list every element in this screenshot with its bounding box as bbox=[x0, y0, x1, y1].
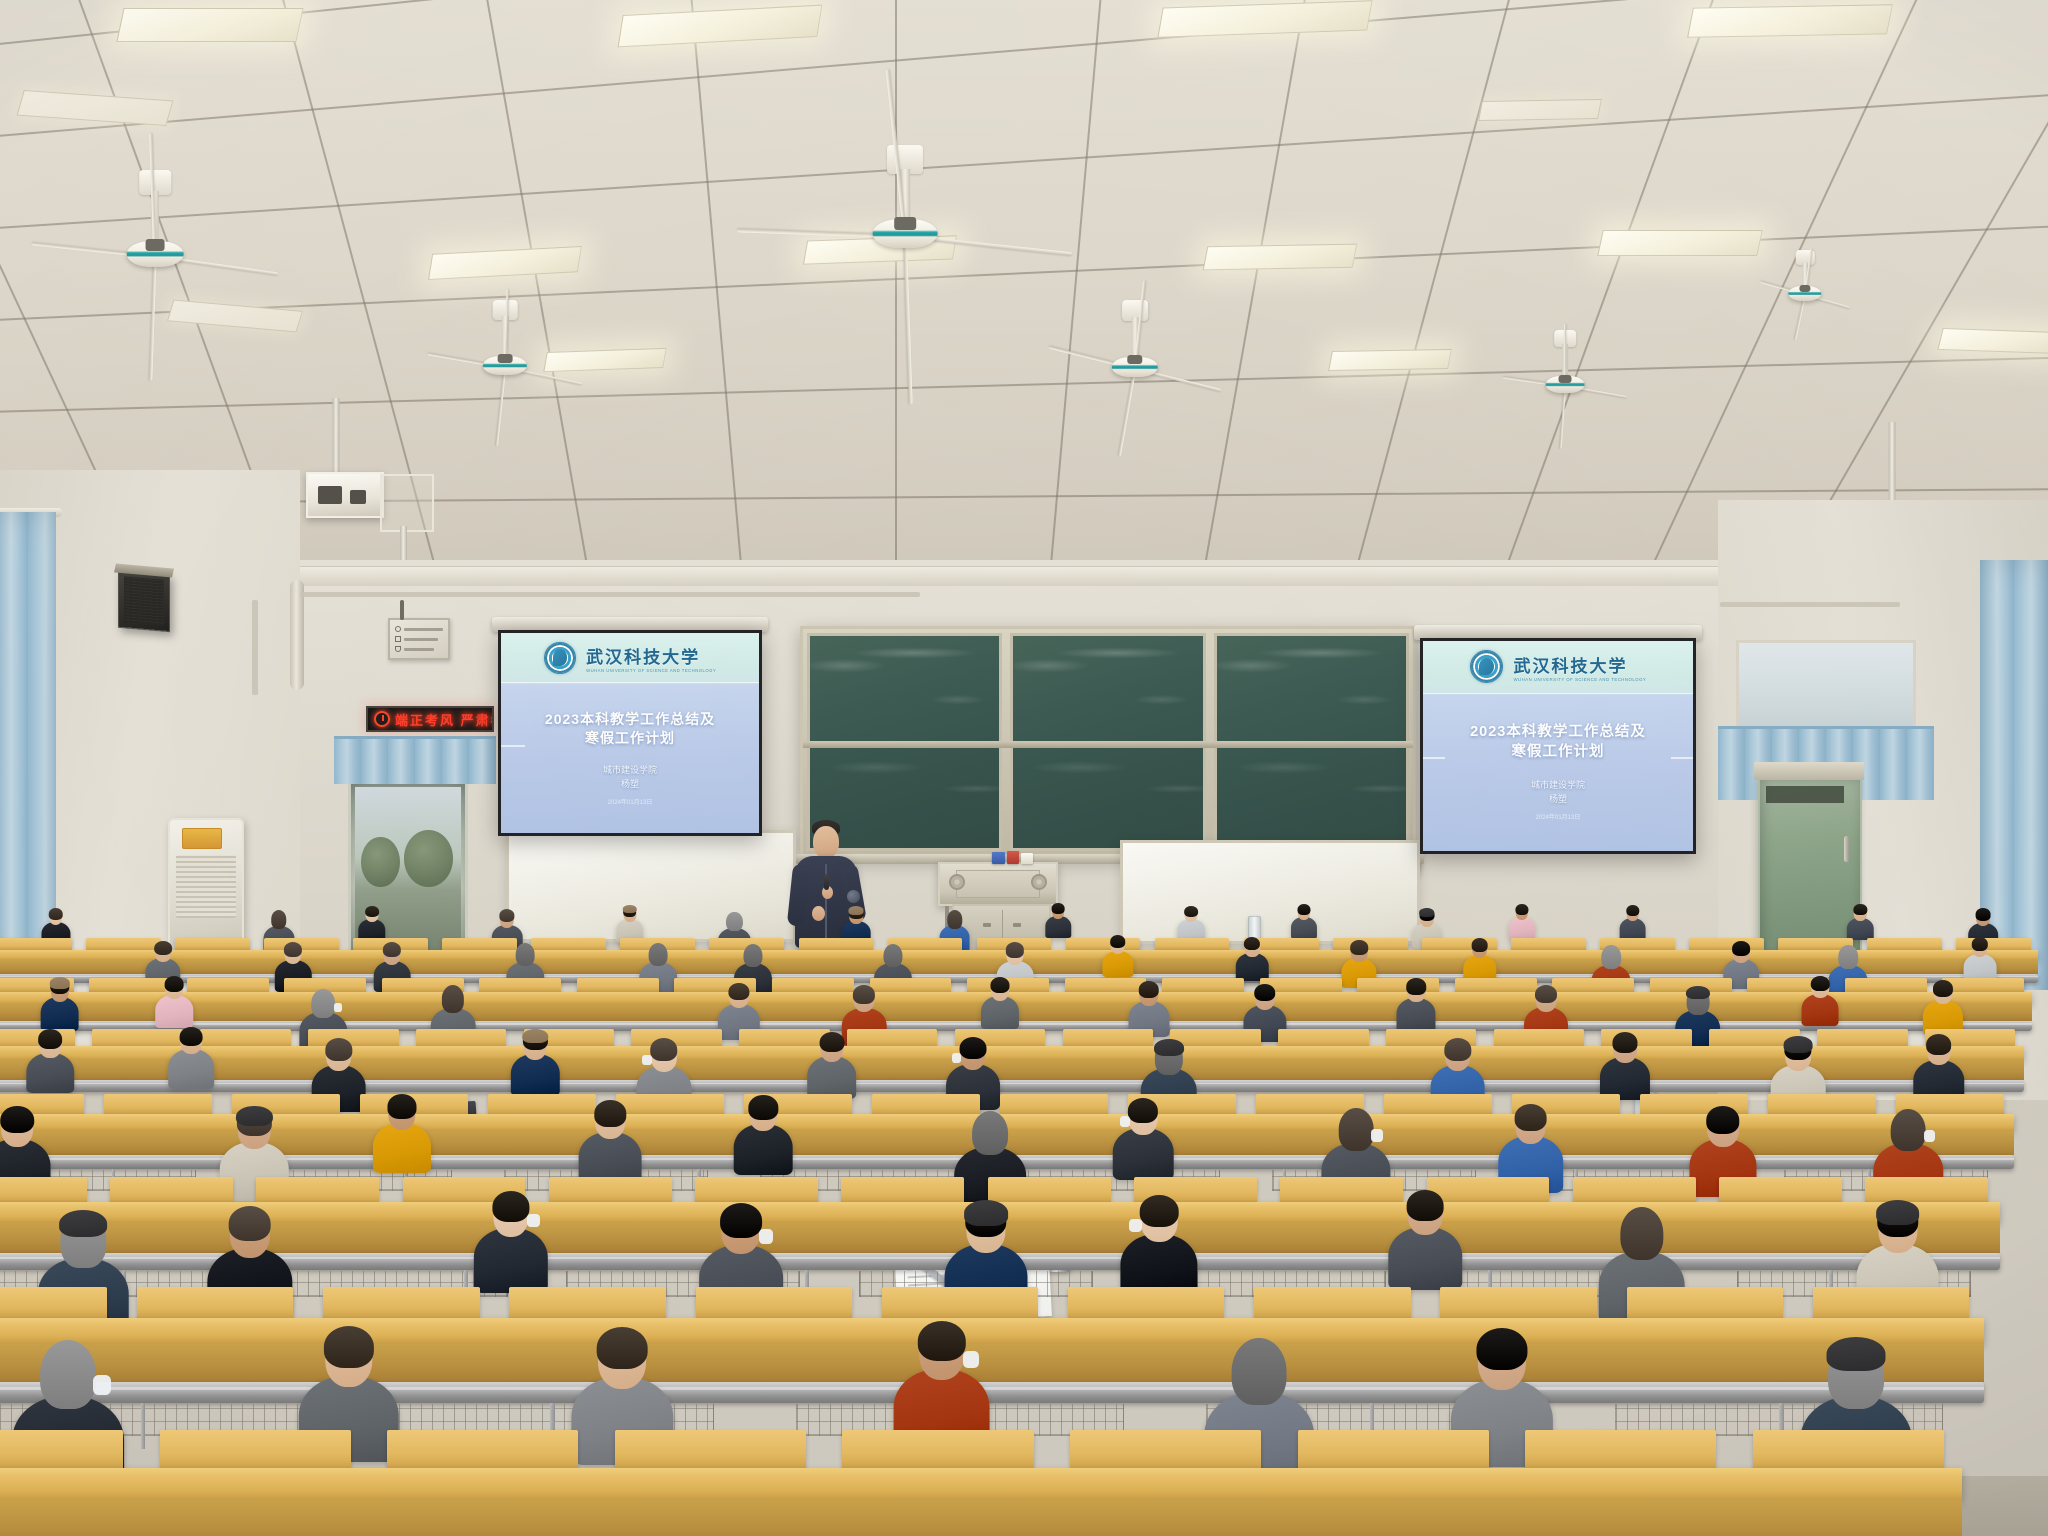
audience-hair bbox=[743, 944, 762, 967]
audience-hair bbox=[271, 910, 287, 929]
audience-torso bbox=[511, 1054, 559, 1096]
audience-hair bbox=[516, 943, 535, 966]
audience-hair bbox=[365, 906, 379, 917]
audience-hair bbox=[1128, 1098, 1158, 1123]
audience-torso bbox=[981, 996, 1019, 1029]
slide-date: 2024年01月13日 bbox=[608, 797, 653, 806]
audience-member bbox=[979, 975, 1021, 1033]
audience-hair bbox=[947, 910, 962, 929]
audience-hat bbox=[1154, 1039, 1184, 1056]
fan-hub bbox=[894, 217, 916, 230]
audience-hair bbox=[228, 1206, 271, 1242]
audience-hair bbox=[1110, 935, 1126, 948]
audience-torso bbox=[1236, 953, 1268, 981]
audience-hair bbox=[284, 942, 302, 957]
audience-member bbox=[1800, 974, 1841, 1031]
chalkboard bbox=[800, 626, 1416, 858]
ceiling-grid-line bbox=[1455, 0, 1737, 640]
fan-hub bbox=[1799, 285, 1810, 292]
audience-member bbox=[1109, 1094, 1176, 1187]
led-sign-text: 端正考风 严肃考纪 bbox=[395, 710, 494, 729]
audience-hair bbox=[1407, 1190, 1444, 1221]
slide-department: 城市建设学院 bbox=[1531, 779, 1585, 793]
university-name-en: WUHAN UNIVERSITY OF SCIENCE AND TECHNOLO… bbox=[586, 668, 716, 673]
fan-hub bbox=[146, 239, 165, 251]
slide-title-line1: 2023本科教学工作总结及 bbox=[1470, 723, 1646, 743]
desk-row bbox=[0, 1468, 1962, 1536]
face-mask bbox=[1924, 1130, 1936, 1143]
audience-hat bbox=[60, 1210, 108, 1238]
ceiling-light-fixture bbox=[1328, 349, 1452, 371]
slide-department: 城市建设学院 bbox=[603, 764, 657, 778]
audience-hair bbox=[1244, 937, 1260, 951]
audience-hair bbox=[1612, 1032, 1637, 1053]
audience-member bbox=[1100, 933, 1135, 981]
ceiling-fan bbox=[1560, 330, 1570, 340]
audience-hat bbox=[849, 906, 864, 915]
audience-hair bbox=[442, 985, 464, 1012]
audience-torso bbox=[1847, 918, 1873, 941]
fan-hub bbox=[498, 354, 513, 363]
ac-warning-sticker bbox=[182, 828, 222, 848]
audience-hair bbox=[972, 1111, 1008, 1155]
audience-hair bbox=[1298, 904, 1311, 915]
audience-hair bbox=[1854, 904, 1867, 915]
audience-member bbox=[508, 1027, 562, 1101]
audience-hair bbox=[917, 1321, 965, 1361]
ceiling-light-fixture bbox=[1203, 244, 1358, 271]
face-mask bbox=[1371, 1129, 1383, 1141]
audience-hair bbox=[728, 983, 749, 1001]
ceiling-light-fixture bbox=[1937, 328, 2048, 354]
ceiling-grid-line bbox=[1313, 0, 1527, 640]
face-mask bbox=[1129, 1219, 1142, 1233]
desk-apron bbox=[0, 1500, 1962, 1536]
ceiling-fan bbox=[900, 145, 910, 155]
audience-hat bbox=[964, 1200, 1008, 1225]
audience-member bbox=[731, 1092, 796, 1182]
slide-title-line2: 寒假工作计划 bbox=[545, 729, 715, 748]
audience-torso bbox=[1397, 998, 1436, 1032]
audience-hair bbox=[154, 941, 172, 956]
desk-apron bbox=[0, 1060, 2024, 1080]
ceiling-grid-line bbox=[0, 352, 2048, 418]
slide-presenter: 杨塑 bbox=[621, 778, 639, 792]
face-mask bbox=[759, 1229, 773, 1244]
audience-torso bbox=[26, 1053, 73, 1094]
ceiling-grid-line bbox=[685, 0, 758, 640]
audience-hair bbox=[594, 1100, 625, 1126]
audience-hair bbox=[1477, 1328, 1528, 1371]
electrical-conduit-right bbox=[1720, 602, 1900, 607]
audience-torso bbox=[155, 995, 193, 1027]
ceiling-grid-line bbox=[475, 0, 619, 640]
audience-torso bbox=[1113, 1128, 1174, 1180]
audience-hair bbox=[1972, 937, 1988, 951]
audience-torso bbox=[1802, 994, 1839, 1026]
audience-hair bbox=[1515, 904, 1528, 915]
slide-title: 2023本科教学工作总结及 寒假工作计划 bbox=[545, 710, 715, 748]
audience-hair bbox=[1471, 938, 1488, 952]
audience-member bbox=[1395, 976, 1438, 1036]
led-scrolling-sign: 端正考风 严肃考纪 bbox=[366, 706, 494, 732]
audience-hair bbox=[726, 912, 742, 932]
audience-member bbox=[370, 1091, 435, 1180]
audience-member bbox=[1290, 902, 1319, 942]
audience-hair bbox=[649, 943, 668, 966]
audience-hat bbox=[1876, 1200, 1920, 1225]
audience-torso bbox=[1291, 917, 1317, 939]
slide-header: 武汉科技大学 WUHAN UNIVERSITY OF SCIENCE AND T… bbox=[1423, 641, 1693, 694]
slide-header: 武汉科技大学 WUHAN UNIVERSITY OF SCIENCE AND T… bbox=[501, 633, 759, 683]
audience-hair bbox=[597, 1327, 648, 1369]
ceiling-grid-line bbox=[0, 81, 2048, 242]
audience-member bbox=[469, 1187, 552, 1301]
ceiling-grid-line bbox=[1034, 0, 1107, 640]
face-mask bbox=[642, 1055, 651, 1065]
audience-hair bbox=[1232, 1338, 1287, 1405]
audience-member bbox=[1044, 902, 1072, 941]
audience-torso bbox=[807, 1056, 857, 1099]
fan-hub bbox=[1127, 355, 1142, 364]
ceiling-fan bbox=[1800, 250, 1810, 260]
audience-hat bbox=[236, 1106, 272, 1127]
slide-presenter: 杨塑 bbox=[1549, 793, 1567, 807]
audience-torso bbox=[1389, 1227, 1463, 1290]
audience-hat bbox=[1419, 908, 1435, 917]
audience-hair bbox=[1052, 903, 1065, 914]
slide-title: 2023本科教学工作总结及 寒假工作计划 bbox=[1470, 723, 1646, 762]
university-name-cn: 武汉科技大学 bbox=[586, 643, 700, 668]
audience-hair bbox=[38, 1029, 62, 1049]
ceiling-grid-line bbox=[1173, 0, 1317, 640]
audience-hair bbox=[650, 1038, 678, 1061]
audience-hair bbox=[1254, 984, 1276, 1002]
projector-mount-left bbox=[300, 470, 440, 570]
desk-leg bbox=[141, 1403, 146, 1449]
electrical-conduit-left bbox=[252, 600, 258, 695]
university-crest-logo bbox=[1470, 650, 1503, 683]
audience-member bbox=[166, 1024, 217, 1094]
chalk-box-white[interactable] bbox=[1021, 853, 1033, 864]
ceiling-light-fixture bbox=[1478, 99, 1602, 121]
audience-torso bbox=[734, 1124, 793, 1174]
floor-standing-air-conditioner bbox=[168, 818, 244, 958]
ceiling-fan bbox=[1130, 300, 1140, 310]
desk-front-rail bbox=[0, 1080, 2024, 1092]
slide-left: 武汉科技大学 WUHAN UNIVERSITY OF SCIENCE AND T… bbox=[501, 633, 759, 833]
audience-hair bbox=[1839, 945, 1859, 969]
slide-right: 武汉科技大学 WUHAN UNIVERSITY OF SCIENCE AND T… bbox=[1423, 641, 1693, 851]
audience-hair bbox=[40, 1340, 96, 1408]
audience-hair bbox=[819, 1032, 844, 1053]
clock-icon bbox=[374, 711, 390, 727]
audience-hair bbox=[1, 1106, 35, 1134]
audience-hair bbox=[1407, 978, 1427, 994]
audience-torso bbox=[373, 1123, 431, 1173]
safety-notice-plaque bbox=[388, 618, 450, 660]
audience-torso bbox=[1102, 951, 1133, 978]
audience-hair bbox=[884, 944, 903, 967]
audience-hat bbox=[1827, 1337, 1886, 1371]
desk-surface bbox=[0, 1046, 2024, 1060]
audience-hair bbox=[990, 977, 1009, 993]
audience-hair bbox=[1976, 908, 1991, 920]
audience-hair bbox=[1926, 1034, 1952, 1055]
chalk-box-blue[interactable] bbox=[992, 852, 1005, 864]
audience-hat bbox=[523, 1029, 549, 1044]
wall-mounted-loudspeaker bbox=[118, 570, 170, 633]
audience-member bbox=[24, 1026, 77, 1099]
electrical-conduit-top bbox=[300, 592, 920, 597]
university-name-cn: 武汉科技大学 bbox=[1513, 652, 1627, 677]
audience-hair bbox=[492, 1191, 529, 1222]
sleeve-badge bbox=[847, 890, 860, 903]
face-mask bbox=[93, 1375, 112, 1395]
audience-hair bbox=[1891, 1109, 1926, 1151]
projection-screen-right: 武汉科技大学 WUHAN UNIVERSITY OF SCIENCE AND T… bbox=[1420, 638, 1696, 854]
audience-hair bbox=[749, 1095, 778, 1119]
audience-torso bbox=[1509, 917, 1535, 940]
audience-hair bbox=[1006, 942, 1024, 957]
audience-hair bbox=[312, 989, 336, 1018]
whiteboard-left bbox=[506, 830, 796, 942]
handheld-microphone bbox=[824, 874, 829, 890]
face-mask bbox=[963, 1351, 979, 1368]
audience-hair bbox=[1184, 906, 1198, 917]
audience-hair bbox=[1620, 1207, 1663, 1260]
audience-hair bbox=[1535, 985, 1557, 1003]
face-mask bbox=[334, 1003, 342, 1012]
audience-hair bbox=[325, 1038, 352, 1061]
ceiling-fan bbox=[500, 300, 510, 310]
desk-surface bbox=[0, 1468, 1962, 1500]
university-name-en: WUHAN UNIVERSITY OF SCIENCE AND TECHNOLO… bbox=[1513, 677, 1646, 682]
audience-hair bbox=[959, 1037, 986, 1059]
audience-hair bbox=[1811, 976, 1829, 991]
audience-member bbox=[1507, 903, 1536, 943]
audience-member bbox=[1385, 1186, 1467, 1298]
audience-hat bbox=[1686, 986, 1710, 1000]
audience-torso bbox=[474, 1228, 548, 1292]
audience-hair bbox=[1732, 941, 1750, 956]
audience-hair bbox=[323, 1326, 373, 1368]
audience-hair bbox=[1140, 1195, 1179, 1227]
slide-date: 2024年01月13日 bbox=[1536, 812, 1581, 821]
audience-hat bbox=[622, 905, 637, 913]
face-mask bbox=[952, 1053, 961, 1063]
audience-hair bbox=[1514, 1104, 1547, 1131]
lecture-hall-photo: 端正考风 严肃考纪 bbox=[0, 0, 2048, 1536]
audience-hair bbox=[1339, 1108, 1374, 1150]
face-mask bbox=[1120, 1116, 1130, 1127]
audience-hair bbox=[1139, 981, 1160, 998]
ceiling-light-fixture bbox=[1687, 4, 1893, 38]
audience-torso bbox=[168, 1049, 214, 1088]
audience-hair bbox=[165, 976, 184, 992]
audience-hair bbox=[1626, 905, 1639, 916]
audience-hair bbox=[1933, 980, 1953, 997]
audience-hat bbox=[1784, 1036, 1813, 1053]
audience-hair bbox=[1706, 1106, 1740, 1134]
audience-hair bbox=[1350, 940, 1368, 955]
audience-hat bbox=[49, 977, 69, 989]
whiteboard-right bbox=[1120, 840, 1420, 944]
projection-screen-left: 武汉科技大学 WUHAN UNIVERSITY OF SCIENCE AND T… bbox=[498, 630, 762, 836]
audience-torso bbox=[1046, 916, 1071, 938]
audience-hair bbox=[180, 1027, 203, 1046]
plaque-cable bbox=[400, 600, 404, 620]
audience-hair bbox=[853, 985, 875, 1004]
ceiling-fan bbox=[150, 170, 160, 180]
audience-hair bbox=[1601, 945, 1621, 969]
ceiling-light-fixture bbox=[1597, 230, 1763, 256]
slide-title-line1: 2023本科教学工作总结及 bbox=[545, 710, 715, 729]
audience-hair bbox=[383, 942, 401, 957]
audience-hair bbox=[387, 1094, 416, 1118]
audience-hair bbox=[720, 1203, 762, 1238]
fan-hub bbox=[1559, 375, 1572, 383]
ceiling-grid-line bbox=[895, 0, 897, 640]
ceiling-light-fixture bbox=[116, 8, 303, 42]
audience-hair bbox=[48, 908, 63, 920]
chalk-box-red[interactable] bbox=[1007, 851, 1019, 864]
face-mask bbox=[527, 1214, 539, 1227]
doorway-curtain-valance bbox=[334, 736, 496, 784]
university-crest-logo bbox=[544, 642, 576, 674]
audience-hair bbox=[499, 909, 514, 922]
slide-title-line2: 寒假工作计划 bbox=[1470, 743, 1646, 763]
audience-hair bbox=[1444, 1038, 1471, 1061]
